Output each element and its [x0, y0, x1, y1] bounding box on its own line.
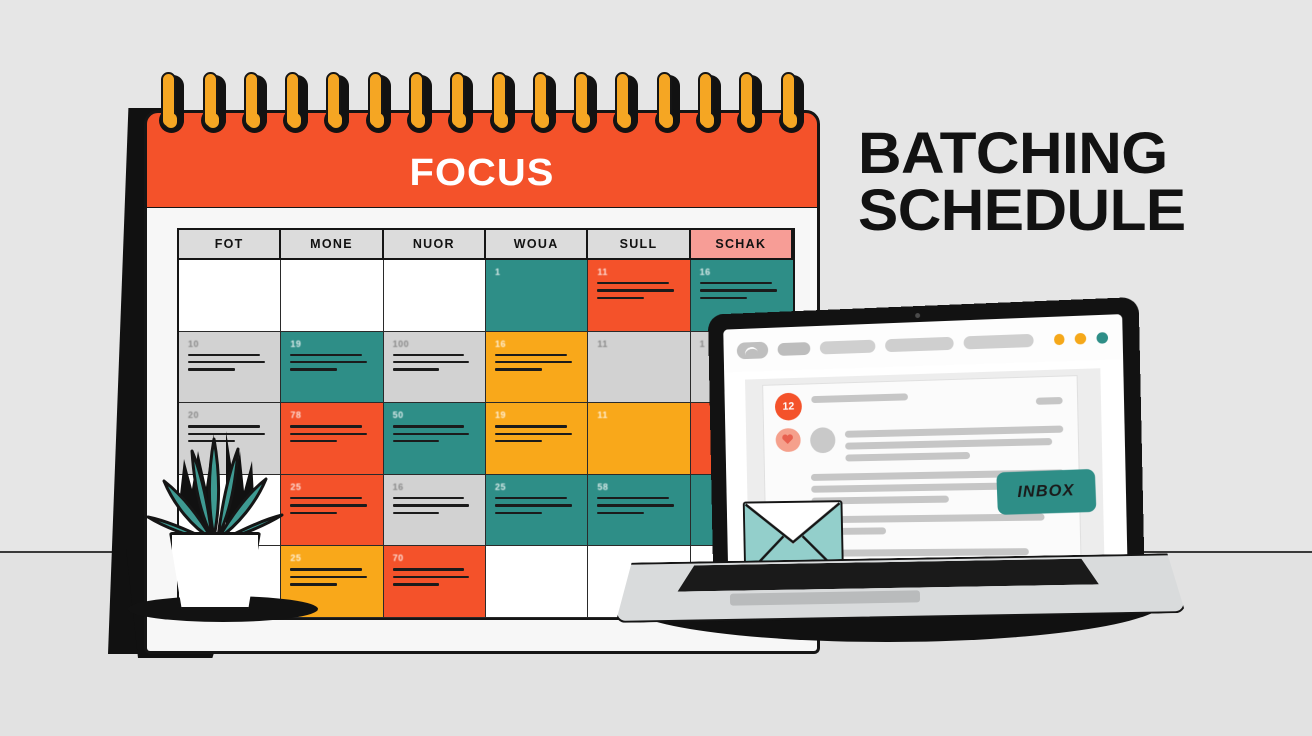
laptop-lid: 12 [710, 299, 1143, 598]
calendar-day-cell[interactable]: 19 [281, 332, 383, 404]
event-bars [290, 354, 373, 371]
day-number: 50 [393, 410, 476, 420]
text-line [845, 426, 1063, 438]
calendar-col-header-woua: WOUA [486, 230, 588, 260]
list-item[interactable] [764, 413, 1078, 463]
page-title-line2: SCHEDULE [858, 183, 1305, 240]
calendar-col-header-nuor: NUOR [384, 230, 486, 260]
calendar-col-header-mone: MONE [281, 230, 383, 260]
plant-pot [169, 532, 261, 610]
toolbar-pill[interactable] [963, 333, 1033, 349]
day-number: 10 [188, 339, 271, 349]
calendar-title: FOCUS [410, 152, 555, 195]
potted-plant [140, 425, 290, 595]
calendar-day-cell[interactable]: 70 [384, 546, 486, 618]
text-line [812, 513, 1044, 523]
calendar-header-panel: FOCUS [144, 110, 820, 210]
calendar-day-cell[interactable] [384, 260, 486, 332]
day-number: 100 [393, 339, 476, 349]
day-number: 20 [188, 410, 271, 420]
toolbar-dot-2[interactable] [1075, 332, 1086, 344]
back-arrow-icon[interactable] [737, 341, 769, 359]
calendar-day-cell[interactable] [179, 260, 281, 332]
day-number: 70 [393, 553, 476, 563]
calendar-col-header-schak: SCHAK [691, 230, 793, 260]
laptop: 12 [505, 300, 1185, 650]
day-number: 78 [290, 410, 373, 420]
calendar-day-cell[interactable]: 78 [281, 403, 383, 475]
day-number: 16 [393, 482, 476, 492]
calendar-col-header-sull: SULL [588, 230, 690, 260]
avatar [810, 427, 836, 453]
event-bars [393, 497, 476, 514]
calendar-day-cell[interactable]: 10 [179, 332, 281, 404]
page-title: BATCHING SCHEDULE [858, 126, 1305, 240]
webcam-icon [915, 313, 920, 318]
event-bars [393, 354, 476, 371]
event-bars [700, 282, 784, 299]
event-bars [393, 425, 476, 442]
inbox-page: 12 [745, 368, 1105, 571]
toolbar-pill[interactable] [778, 342, 810, 356]
laptop-screen: 12 [723, 314, 1128, 583]
text-line [812, 548, 1029, 557]
calendar-col-header-fot: FOT [179, 230, 281, 260]
inbox-label[interactable]: INBOX [997, 469, 1097, 515]
calendar-day-cell[interactable]: 16 [384, 475, 486, 547]
day-number: 11 [597, 267, 680, 277]
toolbar-pill[interactable] [820, 339, 876, 354]
illustration-canvas: BATCHING SCHEDULE FOCUS FOTMONENUORWOUAS… [0, 0, 1312, 736]
day-number: 19 [290, 339, 373, 349]
toolbar-dot-1[interactable] [1054, 333, 1065, 345]
page-title-line1: BATCHING [858, 121, 1168, 186]
calendar-day-cell[interactable]: 100 [384, 332, 486, 404]
day-number: 25 [290, 553, 373, 563]
calendar-day-cell[interactable]: 50 [384, 403, 486, 475]
toolbar-dot-3[interactable] [1097, 332, 1109, 344]
notification-badge: 12 [775, 393, 802, 421]
text-line [811, 393, 908, 403]
calendar-day-cell[interactable]: 25 [281, 475, 383, 547]
toolbar-pill[interactable] [885, 336, 954, 351]
text-line [1036, 397, 1063, 405]
heart-face-emoji [775, 428, 800, 452]
event-bars [290, 497, 373, 514]
day-number: 16 [700, 267, 784, 277]
message-list: 12 [762, 375, 1081, 565]
day-number: 25 [290, 482, 373, 492]
event-bars [290, 568, 373, 585]
day-number: 1 [495, 267, 578, 277]
text-line [845, 438, 1052, 450]
event-bars [393, 568, 476, 585]
browser-toolbar [723, 314, 1123, 372]
event-bars [290, 425, 373, 442]
event-bars [597, 282, 680, 299]
calendar-day-cell[interactable] [281, 260, 383, 332]
event-bars [188, 354, 271, 371]
